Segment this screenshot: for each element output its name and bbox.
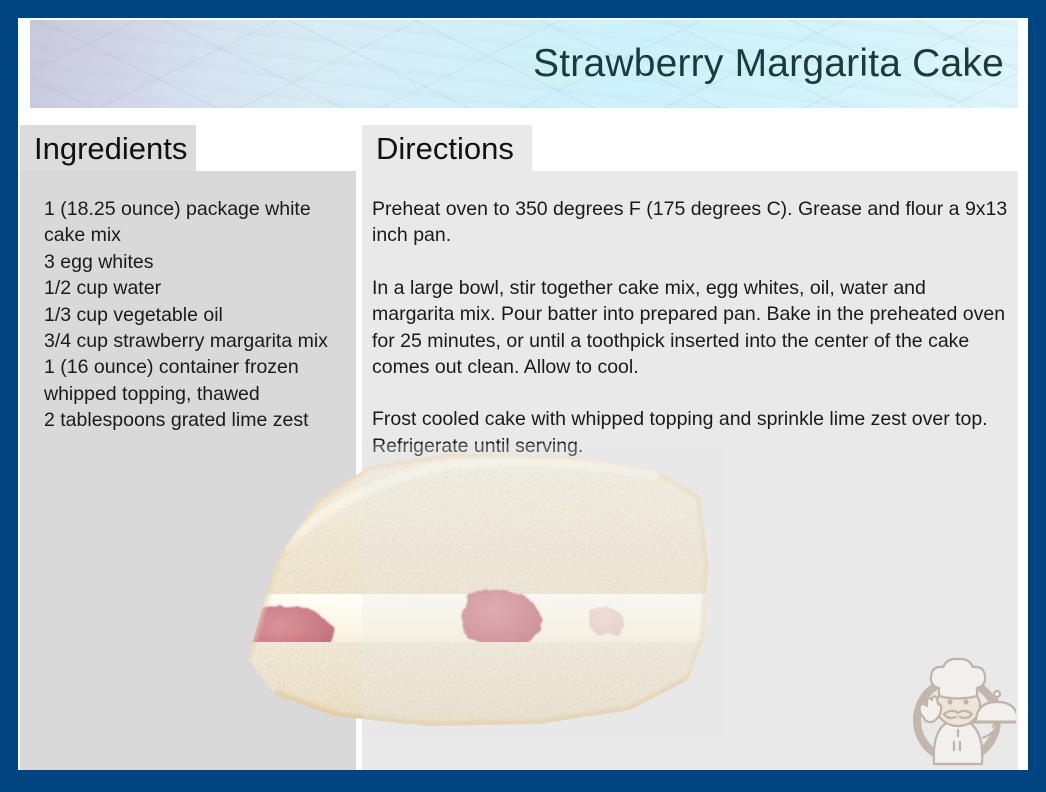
list-item: 1 (18.25 ounce) package white cake mix (44, 196, 350, 249)
direction-step: Preheat oven to 350 degrees F (175 degre… (372, 196, 1008, 249)
chef-mascot-logo (898, 646, 1016, 768)
section-tab-ingredients: Ingredients (20, 125, 196, 171)
direction-step: In a large bowl, stir together cake mix,… (372, 275, 1008, 381)
card-border-top (0, 0, 1046, 18)
recipe-title: Strawberry Margarita Cake (533, 42, 1004, 86)
list-item: 1 (16 ounce) container frozen whipped to… (44, 354, 350, 407)
ingredients-heading: Ingredients (34, 133, 187, 164)
direction-step: Frost cooled cake with whipped topping a… (372, 406, 1008, 459)
list-item: 1/3 cup vegetable oil (44, 302, 350, 328)
card-border-right (1028, 0, 1046, 792)
ingredients-panel: 1 (18.25 ounce) package white cake mix 3… (20, 171, 356, 770)
card-border-left (0, 0, 18, 792)
directions-body: Preheat oven to 350 degrees F (175 degre… (372, 196, 1008, 459)
title-banner: Strawberry Margarita Cake (30, 20, 1018, 108)
ingredients-list: 1 (18.25 ounce) package white cake mix 3… (44, 196, 350, 434)
list-item: 2 tablespoons grated lime zest (44, 407, 350, 433)
list-item: 1/2 cup water (44, 275, 350, 301)
section-tab-directions: Directions (362, 125, 532, 171)
card-border-bottom (0, 770, 1046, 792)
recipe-card: Strawberry Margarita Cake Ingredients 1 … (0, 0, 1046, 792)
list-item: 3/4 cup strawberry margarita mix (44, 328, 350, 354)
list-item: 3 egg whites (44, 249, 350, 275)
directions-heading: Directions (376, 133, 514, 164)
